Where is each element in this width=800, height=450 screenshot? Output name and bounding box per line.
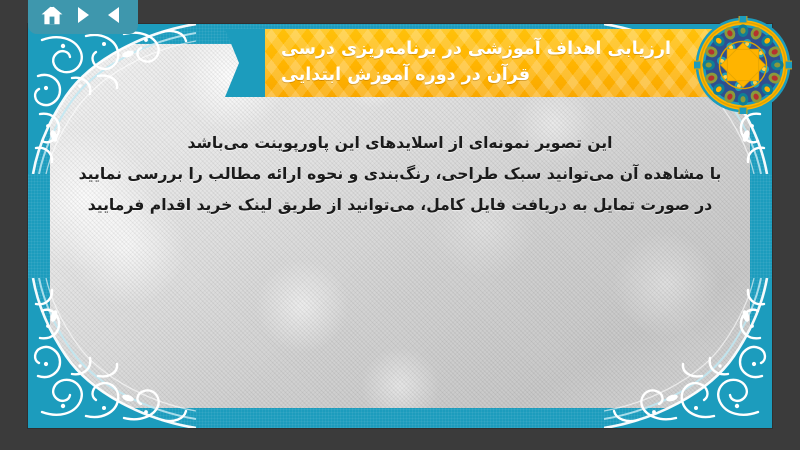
persian-medallion-ornament-icon [694, 16, 792, 114]
home-button[interactable] [39, 2, 65, 28]
forward-button[interactable] [70, 2, 96, 28]
ribbon-banner: ارزیابی اهداف آموزشی در برنامه‌ریزی درسی… [265, 29, 760, 97]
slide-body-text: این تصویر نمونه‌ای از اسلایدهای این پاور… [68, 128, 732, 221]
back-button[interactable] [101, 2, 127, 28]
navigation-toolbar [28, 0, 138, 34]
forward-icon [72, 4, 94, 26]
home-icon [40, 3, 64, 27]
slide-title-line-1: ارزیابی اهداف آموزشی در برنامه‌ریزی درسی [281, 37, 671, 63]
body-line-3: در صورت تمایل به دریافت فایل کامل، می‌تو… [68, 190, 732, 221]
body-line-2: با مشاهده آن می‌توانید سبک طراحی، رنگ‌بن… [68, 159, 732, 190]
back-icon [103, 4, 125, 26]
title-ribbon: ارزیابی اهداف آموزشی در برنامه‌ریزی درسی… [225, 16, 800, 106]
slide-title-line-2: قرآن در دوره آموزش ابتدایی [281, 63, 530, 89]
slide-viewer: این تصویر نمونه‌ای از اسلایدهای این پاور… [0, 0, 800, 450]
body-line-1: این تصویر نمونه‌ای از اسلایدهای این پاور… [68, 128, 732, 159]
